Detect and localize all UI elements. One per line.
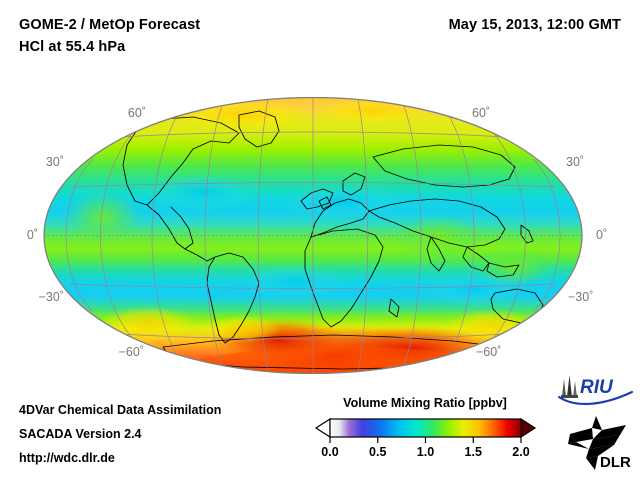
colorbar-tick-4: 2.0 bbox=[501, 445, 541, 459]
datetime-label: May 15, 2013, 12:00 GMT bbox=[449, 17, 621, 33]
colorbar-ticks bbox=[330, 437, 521, 443]
lat-label-left-60: 60˚ bbox=[100, 106, 146, 120]
lat-label-left-m60: −60˚ bbox=[88, 345, 144, 359]
lat-label-right-60: 60˚ bbox=[472, 106, 520, 120]
colorbar-cap-low bbox=[316, 419, 330, 437]
lat-label-right-m60: −60˚ bbox=[476, 345, 534, 359]
colorbar-tick-2: 1.0 bbox=[406, 445, 446, 459]
colorbar: Volume Mixing Ratio [ppbv] bbox=[300, 396, 550, 474]
dlr-wordmark: DLR bbox=[600, 454, 631, 471]
page-title: GOME-2 / MetOp Forecast bbox=[19, 17, 200, 33]
colorbar-gradient bbox=[330, 419, 521, 437]
global-map bbox=[43, 97, 583, 374]
riu-chimneys-icon bbox=[561, 375, 578, 398]
colorbar-tick-3: 1.5 bbox=[453, 445, 493, 459]
lat-label-right-m30: −30˚ bbox=[568, 290, 626, 304]
colorbar-svg bbox=[300, 416, 550, 446]
footer-line-assimilation: 4DVar Chemical Data Assimilation bbox=[19, 403, 221, 417]
colorbar-tick-1: 0.5 bbox=[358, 445, 398, 459]
map-data-layer bbox=[43, 97, 583, 374]
page-subtitle: HCl at 55.4 hPa bbox=[19, 39, 125, 55]
dlr-logo: DLR bbox=[562, 414, 636, 474]
footer-line-version: SACADA Version 2.4 bbox=[19, 427, 142, 441]
lat-label-right-30: 30˚ bbox=[566, 155, 614, 169]
colorbar-title: Volume Mixing Ratio [ppbv] bbox=[300, 396, 550, 410]
map-svg bbox=[43, 97, 583, 374]
figure-canvas: GOME-2 / MetOp Forecast HCl at 55.4 hPa … bbox=[0, 0, 640, 480]
footer-line-url[interactable]: http://wdc.dlr.de bbox=[19, 451, 115, 465]
colorbar-cap-high bbox=[521, 419, 535, 437]
lat-label-left-30: 30˚ bbox=[18, 155, 64, 169]
riu-wordmark: RIU bbox=[580, 377, 614, 398]
lat-label-right-0: 0˚ bbox=[596, 228, 640, 242]
riu-logo: RIU bbox=[556, 373, 636, 411]
lat-label-left-m30: −30˚ bbox=[8, 290, 64, 304]
lat-label-left-0: 0˚ bbox=[0, 228, 38, 242]
colorbar-tick-0: 0.0 bbox=[310, 445, 350, 459]
